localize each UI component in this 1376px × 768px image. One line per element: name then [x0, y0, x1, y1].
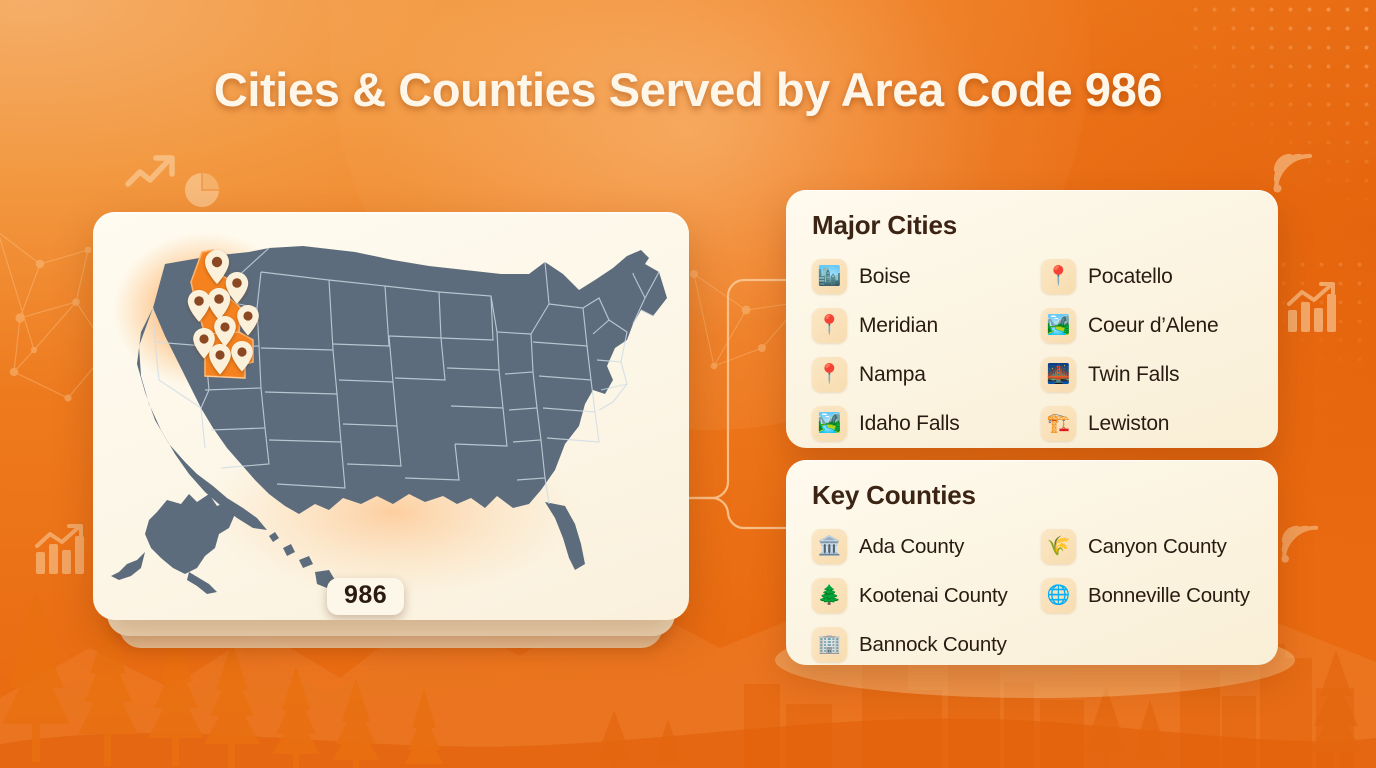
- lake-icon: 🏞️: [1041, 308, 1076, 343]
- list-item-bonneville-county[interactable]: 🌐 Bonneville County: [1041, 572, 1252, 619]
- city-label: Pocatello: [1088, 265, 1173, 289]
- pie-chart-icon: [182, 170, 222, 210]
- courthouse-icon: 🏛️: [812, 529, 847, 564]
- list-item-lewiston[interactable]: 🏗️ Lewiston: [1041, 400, 1252, 447]
- wifi-signal-icon-bottom: [1280, 524, 1320, 564]
- map-pin-icon: 📍: [812, 308, 847, 343]
- list-item-idaho-falls[interactable]: 🏞️ Idaho Falls: [812, 400, 1023, 447]
- city-label: Nampa: [859, 363, 926, 387]
- evergreen-trees-icon: 🌲: [812, 578, 847, 613]
- cityscape-icon: 🏙️: [812, 259, 847, 294]
- map-alaska: [111, 494, 235, 594]
- city-label: Idaho Falls: [859, 412, 960, 436]
- waterfall-icon: 🏞️: [812, 406, 847, 441]
- list-item-twin-falls[interactable]: 🌉 Twin Falls: [1041, 351, 1252, 398]
- county-label: Bannock County: [859, 633, 1007, 657]
- list-item-canyon-county[interactable]: 🌾 Canyon County: [1041, 523, 1252, 570]
- bridge-icon: 🌉: [1041, 357, 1076, 392]
- list-item-pocatello[interactable]: 📍 Pocatello: [1041, 253, 1252, 300]
- bar-chart-growth-icon-right: [1284, 282, 1338, 334]
- city-label: Twin Falls: [1088, 363, 1179, 387]
- list-item-meridian[interactable]: 📍 Meridian: [812, 302, 1023, 349]
- list-item-bannock-county[interactable]: 🏢 Bannock County: [812, 621, 1023, 668]
- area-code-badge[interactable]: 986: [327, 578, 404, 615]
- office-building-icon: 🏢: [812, 627, 847, 662]
- map-pin-icon: 📍: [812, 357, 847, 392]
- river-port-icon: 🏗️: [1041, 406, 1076, 441]
- farmland-icon: 🌾: [1041, 529, 1076, 564]
- county-seal-icon: 🌐: [1041, 578, 1076, 613]
- city-label: Boise: [859, 265, 911, 289]
- county-label: Kootenai County: [859, 584, 1008, 608]
- wifi-signal-icon: [1272, 152, 1314, 194]
- major-cities-panel: Major Cities 🏙️ Boise 📍 Pocatello 📍 Meri…: [786, 190, 1278, 448]
- list-item-boise[interactable]: 🏙️ Boise: [812, 253, 1023, 300]
- major-cities-grid: 🏙️ Boise 📍 Pocatello 📍 Meridian 🏞️ Coeur…: [812, 253, 1252, 447]
- county-label: Canyon County: [1088, 535, 1227, 559]
- grid-spacer: [1041, 621, 1252, 668]
- bar-chart-growth-icon: [32, 524, 86, 576]
- trending-up-icon: [124, 152, 180, 192]
- list-item-nampa[interactable]: 📍 Nampa: [812, 351, 1023, 398]
- list-item-ada-county[interactable]: 🏛️ Ada County: [812, 523, 1023, 570]
- city-label: Meridian: [859, 314, 938, 338]
- city-label: Coeur d’Alene: [1088, 314, 1219, 338]
- key-counties-panel: Key Counties 🏛️ Ada County 🌾 Canyon Coun…: [786, 460, 1278, 665]
- us-map-card[interactable]: 986: [93, 212, 689, 620]
- key-counties-grid: 🏛️ Ada County 🌾 Canyon County 🌲 Kootenai…: [812, 523, 1252, 668]
- county-label: Bonneville County: [1088, 584, 1250, 608]
- county-label: Ada County: [859, 535, 964, 559]
- page-title: Cities & Counties Served by Area Code 98…: [0, 62, 1376, 117]
- city-label: Lewiston: [1088, 412, 1169, 436]
- list-item-coeur-dalene[interactable]: 🏞️ Coeur d’Alene: [1041, 302, 1252, 349]
- map-pin-icon: 📍: [1041, 259, 1076, 294]
- list-item-kootenai-county[interactable]: 🌲 Kootenai County: [812, 572, 1023, 619]
- key-counties-title: Key Counties: [812, 480, 1252, 511]
- map-card-stack: 986: [93, 212, 689, 648]
- us-map: [93, 212, 689, 620]
- major-cities-title: Major Cities: [812, 210, 1252, 241]
